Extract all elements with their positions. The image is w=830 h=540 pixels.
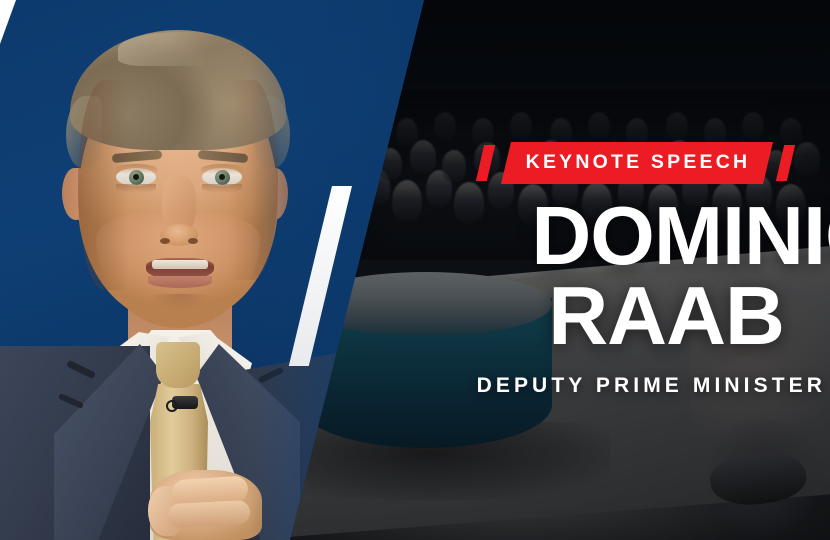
pupil-left bbox=[133, 174, 139, 180]
title-last-name: RAAB bbox=[380, 276, 784, 356]
title-card-graphic: KEYNOTE SPEECH DOMINIC RAAB DEPUTY PRIME… bbox=[0, 0, 830, 540]
pupil-right bbox=[219, 174, 225, 180]
banner-body: KEYNOTE SPEECH bbox=[501, 142, 773, 184]
nostril-left bbox=[160, 238, 170, 244]
banner-label: KEYNOTE SPEECH bbox=[524, 153, 751, 173]
under-eye-right bbox=[202, 184, 242, 193]
eyelid-right bbox=[201, 164, 243, 174]
finger-lower bbox=[167, 500, 250, 528]
teeth bbox=[152, 260, 208, 269]
role-subtitle: DEPUTY PRIME MINISTER bbox=[430, 374, 826, 398]
microphone-clip-icon bbox=[166, 400, 178, 412]
keynote-banner: KEYNOTE SPEECH bbox=[480, 142, 830, 184]
chin-shadow bbox=[150, 294, 210, 310]
nostril-right bbox=[188, 238, 198, 244]
title-first-name: DOMINIC bbox=[380, 196, 830, 276]
hair-highlight bbox=[118, 32, 246, 66]
necktie-knot bbox=[156, 342, 200, 388]
lower-lip bbox=[148, 276, 212, 288]
name-title: DOMINIC RAAB bbox=[380, 196, 830, 366]
banner-tick-right bbox=[776, 145, 795, 181]
under-eye-left bbox=[116, 184, 156, 193]
eyelid-left bbox=[115, 164, 157, 174]
